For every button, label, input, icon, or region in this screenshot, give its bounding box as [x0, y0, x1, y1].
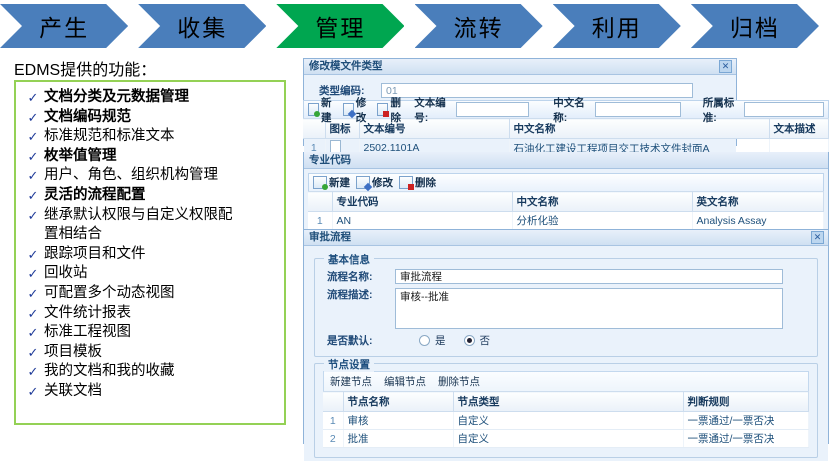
flow-default-row: 是否默认: 是 否 [327, 333, 809, 348]
node-action-link[interactable]: 新建节点 [330, 374, 372, 389]
process-step-1[interactable]: 产生 [0, 4, 128, 48]
column-header[interactable]: 判断规则 [683, 392, 809, 412]
major-delete-label: 删除 [415, 175, 436, 190]
column-header[interactable] [323, 392, 343, 412]
dialog-approval-flow: 审批流程 ✕ 基本信息 流程名称: 审批流程 流程描述: 审核--批准 是否默认… [303, 229, 829, 444]
column-header[interactable] [308, 192, 332, 212]
radio-yes-label: 是 [435, 333, 446, 348]
table-header-row: 专业代码中文名称英文名称 [308, 192, 824, 212]
feature-item: ✓枚举值管理 [16, 147, 284, 167]
process-step-label: 归档 [730, 9, 780, 43]
column-header[interactable]: 节点类型 [453, 392, 683, 412]
major-new-button[interactable]: 新建 [313, 175, 350, 190]
column-header[interactable]: 英文名称 [692, 192, 824, 212]
process-step-label: 利用 [592, 9, 642, 43]
flow-name-label: 流程名称: [327, 269, 395, 284]
edit-button[interactable]: 修改 [343, 95, 372, 125]
cn-name-filter-input[interactable] [595, 102, 681, 117]
feature-item: ✓继承默认权限与自定义权限配置相结合 [16, 206, 284, 245]
process-step-label: 流转 [454, 9, 504, 43]
cell-cn: 分析化验 [512, 212, 692, 230]
node-toolbar: 新建节点编辑节点删除节点 [323, 371, 809, 391]
process-step-3[interactable]: 管理 [276, 4, 404, 48]
close-icon[interactable]: ✕ [719, 60, 732, 73]
dialog-major-code-titlebar: 专业代码 [304, 152, 828, 169]
column-header[interactable]: 文本描述 [769, 119, 829, 139]
check-icon: ✓ [22, 382, 44, 402]
check-icon: ✓ [22, 264, 44, 284]
standard-filter-input[interactable] [744, 102, 824, 117]
new-button-label: 新建 [321, 95, 337, 125]
flow-desc-label: 流程描述: [327, 288, 395, 303]
check-icon: ✓ [22, 166, 44, 186]
feature-item: ✓跟踪项目和文件 [16, 245, 284, 265]
feature-item: ✓关联文档 [16, 382, 284, 402]
process-step-6[interactable]: 归档 [691, 4, 819, 48]
feature-label-continued: 置相结合 [44, 225, 278, 245]
new-button[interactable]: 新建 [308, 95, 337, 125]
node-grid[interactable]: 节点名称节点类型判断规则1审核自定义一票通过/一票否决2批准自定义一票通过/一票… [323, 391, 809, 448]
row-number: 2 [323, 430, 343, 448]
cell-en: Analysis Assay [692, 212, 824, 230]
major-edit-label: 修改 [372, 175, 393, 190]
flow-name-row: 流程名称: 审批流程 [327, 269, 809, 284]
cn-name-filter-label: 中文名称: [553, 95, 588, 125]
major-edit-button[interactable]: 修改 [356, 175, 393, 190]
feature-label: 跟踪项目和文件 [44, 245, 278, 265]
table-header-row: 节点名称节点类型判断规则 [323, 392, 809, 412]
dialog-approval-flow-title: 审批流程 [309, 231, 351, 243]
feature-item: ✓项目模板 [16, 343, 284, 363]
table-row[interactable]: 2批准自定义一票通过/一票否决 [323, 430, 809, 448]
basic-info-group: 基本信息 流程名称: 审批流程 流程描述: 审核--批准 是否默认: 是 [314, 258, 818, 357]
cell-code: AN [332, 212, 512, 230]
node-settings-group-title: 节点设置 [324, 357, 374, 372]
feature-item: ✓用户、角色、组织机构管理 [16, 166, 284, 186]
row-number: 1 [308, 212, 332, 230]
feature-item: ✓文档分类及元数据管理 [16, 88, 284, 108]
process-step-2[interactable]: 收集 [138, 4, 266, 48]
file-type-toolbar: 新建 修改 删除 文本编号: 中文名称: 所属标准: [303, 100, 829, 118]
check-icon: ✓ [22, 108, 44, 128]
feature-label: 枚举值管理 [44, 147, 278, 167]
node-action-link[interactable]: 编辑节点 [384, 374, 426, 389]
cell-type: 自定义 [453, 430, 683, 448]
process-step-5[interactable]: 利用 [553, 4, 681, 48]
feature-label: 标准规范和标准文本 [44, 127, 278, 147]
check-icon: ✓ [22, 206, 44, 226]
delete-icon [399, 176, 413, 189]
check-icon: ✓ [22, 284, 44, 304]
feature-item: ✓标准工程视图 [16, 323, 284, 343]
feature-label: 标准工程视图 [44, 323, 278, 343]
check-icon: ✓ [22, 88, 44, 108]
radio-yes[interactable]: 是 [419, 333, 446, 348]
process-step-label: 产生 [39, 9, 89, 43]
flow-name-input[interactable]: 审批流程 [395, 269, 783, 284]
feature-label: 文件统计报表 [44, 304, 278, 324]
delete-icon [377, 103, 388, 116]
feature-item: ✓文件统计报表 [16, 304, 284, 324]
flow-desc-textarea[interactable]: 审核--批准 [395, 288, 783, 329]
column-header[interactable]: 中文名称 [512, 192, 692, 212]
feature-label: 灵活的流程配置 [44, 186, 278, 206]
feature-label: 回收站 [44, 264, 278, 284]
check-icon: ✓ [22, 147, 44, 167]
flow-desc-row: 流程描述: 审核--批准 [327, 288, 809, 329]
feature-label: 可配置多个动态视图 [44, 284, 278, 304]
delete-button[interactable]: 删除 [377, 95, 406, 125]
feature-label: 继承默认权限与自定义权限配置相结合 [44, 206, 278, 245]
edit-button-label: 修改 [356, 95, 372, 125]
text-code-filter-label: 文本编号: [414, 95, 449, 125]
delete-button-label: 删除 [390, 95, 406, 125]
screenshot-root: 产生收集管理流转利用归档 EDMS提供的功能： ✓文档分类及元数据管理✓文档编码… [0, 0, 829, 444]
feature-label: 用户、角色、组织机构管理 [44, 166, 278, 186]
major-code-toolbar: 新建 修改 删除 [308, 173, 824, 191]
feature-label: 文档编码规范 [44, 108, 278, 128]
major-code-grid[interactable]: 专业代码中文名称英文名称1AN分析化验Analysis Assay [308, 191, 824, 230]
basic-info-group-title: 基本信息 [324, 252, 374, 267]
check-icon: ✓ [22, 127, 44, 147]
radio-no-label: 否 [480, 333, 491, 348]
process-step-4[interactable]: 流转 [415, 4, 543, 48]
feature-item: ✓文档编码规范 [16, 108, 284, 128]
dialog-approval-flow-titlebar: 审批流程 ✕ [304, 230, 828, 246]
check-icon: ✓ [22, 304, 44, 324]
feature-label: 我的文档和我的收藏 [44, 362, 278, 382]
check-icon: ✓ [22, 186, 44, 206]
feature-item: ✓标准规范和标准文本 [16, 127, 284, 147]
dialog-file-type-titlebar: 修改模文件类型 ✕ [304, 59, 736, 75]
node-action-link[interactable]: 删除节点 [438, 374, 480, 389]
dialog-major-code-body: 新建 修改 删除 专业代码中文名称英文名称1AN分析化验Analysis Ass… [304, 169, 828, 230]
standard-filter-label: 所属标准: [703, 95, 738, 125]
edit-icon [343, 103, 354, 116]
cell-type: 自定义 [453, 412, 683, 430]
dialog-file-type-title: 修改模文件类型 [309, 60, 383, 72]
cell-name: 审核 [343, 412, 453, 430]
radio-no[interactable]: 否 [464, 333, 491, 348]
feature-label: 关联文档 [44, 382, 278, 402]
check-icon: ✓ [22, 343, 44, 363]
major-new-label: 新建 [329, 175, 350, 190]
dialog-major-code: 专业代码 新建 修改 删除 专业代码中文名称英文名称1AN分析化验Analysi… [303, 152, 829, 237]
check-icon: ✓ [22, 362, 44, 382]
edms-features-heading: EDMS提供的功能： [14, 56, 156, 80]
major-delete-button[interactable]: 删除 [399, 175, 436, 190]
edms-features-box: ✓文档分类及元数据管理✓文档编码规范✓标准规范和标准文本✓枚举值管理✓用户、角色… [14, 80, 286, 425]
edit-icon [356, 176, 370, 189]
radio-no-icon [464, 335, 475, 346]
process-step-label: 管理 [315, 9, 365, 43]
column-header[interactable]: 专业代码 [332, 192, 512, 212]
cell-rule: 一票通过/一票否决 [683, 412, 809, 430]
check-icon: ✓ [22, 245, 44, 265]
table-row[interactable]: 1AN分析化验Analysis Assay [308, 212, 824, 230]
row-number: 1 [323, 412, 343, 430]
feature-item: ✓灵活的流程配置 [16, 186, 284, 206]
cell-rule: 一票通过/一票否决 [683, 430, 809, 448]
dialog-approval-flow-body: 基本信息 流程名称: 审批流程 流程描述: 审核--批准 是否默认: 是 [304, 246, 828, 461]
feature-item: ✓可配置多个动态视图 [16, 284, 284, 304]
radio-yes-icon [419, 335, 430, 346]
feature-label: 文档分类及元数据管理 [44, 88, 278, 108]
process-step-label: 收集 [177, 9, 227, 43]
feature-label: 项目模板 [44, 343, 278, 363]
new-icon [308, 103, 319, 116]
column-header[interactable]: 节点名称 [343, 392, 453, 412]
close-icon[interactable]: ✕ [811, 231, 824, 244]
cell-name: 批准 [343, 430, 453, 448]
file-type-grid-area: 新建 修改 删除 文本编号: 中文名称: 所属标准: 图标文本编号中文名称文本描… [303, 100, 829, 158]
table-row[interactable]: 1审核自定义一票通过/一票否决 [323, 412, 809, 430]
flow-default-label: 是否默认: [327, 333, 395, 348]
dialog-major-code-title: 专业代码 [309, 154, 351, 166]
new-icon [313, 176, 327, 189]
process-arrow-bar: 产生收集管理流转利用归档 [0, 4, 829, 48]
text-code-filter-input[interactable] [456, 102, 530, 117]
feature-item: ✓我的文档和我的收藏 [16, 362, 284, 382]
feature-item: ✓回收站 [16, 264, 284, 284]
check-icon: ✓ [22, 323, 44, 343]
